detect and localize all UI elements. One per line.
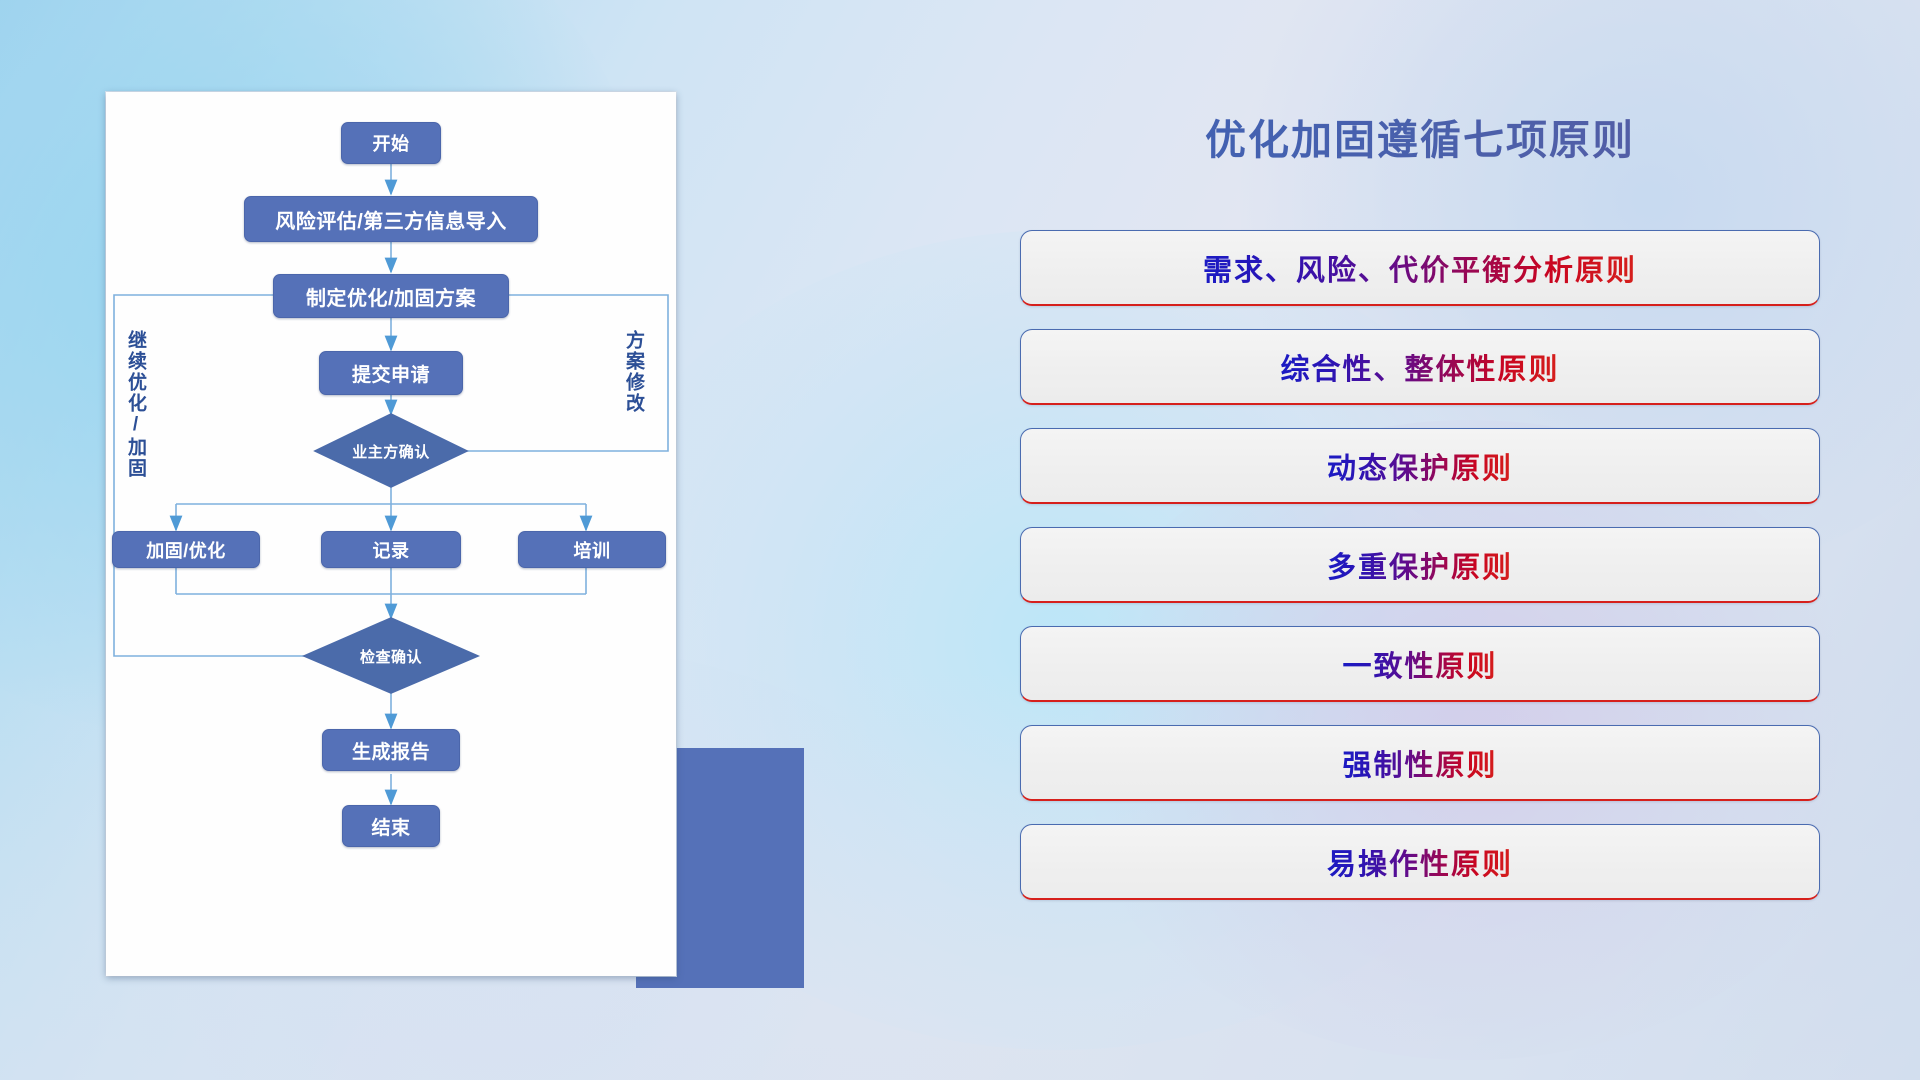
flow-node-generate-report[interactable]: 生成报告 xyxy=(322,729,460,771)
principles-list: 需求、风险、代价平衡分析原则 综合性、整体性原则 动态保护原则 多重保护原则 一… xyxy=(1020,230,1820,923)
principle-label: 动态保护原则 xyxy=(1327,445,1513,487)
flow-node-reinforce-optimize[interactable]: 加固/优化 xyxy=(112,531,260,568)
flow-node-start[interactable]: 开始 xyxy=(341,122,441,164)
principle-item-2[interactable]: 综合性、整体性原则 xyxy=(1020,329,1820,405)
principle-label: 易操作性原则 xyxy=(1327,841,1513,883)
principle-label: 需求、风险、代价平衡分析原则 xyxy=(1203,247,1637,289)
principle-label: 一致性原则 xyxy=(1342,643,1497,685)
principle-item-5[interactable]: 一致性原则 xyxy=(1020,626,1820,702)
flow-node-record[interactable]: 记录 xyxy=(321,531,461,568)
principle-label: 多重保护原则 xyxy=(1327,544,1513,586)
principle-item-1[interactable]: 需求、风险、代价平衡分析原则 xyxy=(1020,230,1820,306)
principle-item-7[interactable]: 易操作性原则 xyxy=(1020,824,1820,900)
principle-label: 强制性原则 xyxy=(1342,742,1497,784)
principles-panel: 优化加固遵循七项原则 需求、风险、代价平衡分析原则 综合性、整体性原则 动态保护… xyxy=(1020,100,1820,980)
panel-title: 优化加固遵循七项原则 xyxy=(1020,106,1820,166)
flow-node-plan[interactable]: 制定优化/加固方案 xyxy=(273,274,509,318)
flow-node-owner-confirm[interactable]: 业主方确认 xyxy=(315,436,467,466)
flow-node-submit-application[interactable]: 提交申请 xyxy=(319,351,463,395)
flow-edge-label-right-loop: 方案修改 xyxy=(624,330,643,414)
principle-item-4[interactable]: 多重保护原则 xyxy=(1020,527,1820,603)
flow-node-check-confirm[interactable]: 检查确认 xyxy=(304,641,478,671)
principle-item-3[interactable]: 动态保护原则 xyxy=(1020,428,1820,504)
principle-item-6[interactable]: 强制性原则 xyxy=(1020,725,1820,801)
slide-canvas: 业主方确认 检查确认 开始 风险评估/第三方信息导入 制定优化/加固方案 提交申… xyxy=(0,0,1920,1080)
flow-node-risk-assessment[interactable]: 风险评估/第三方信息导入 xyxy=(244,196,538,242)
flowchart-card: 业主方确认 检查确认 开始 风险评估/第三方信息导入 制定优化/加固方案 提交申… xyxy=(106,92,676,976)
flow-node-end[interactable]: 结束 xyxy=(342,805,440,847)
flow-node-training[interactable]: 培训 xyxy=(518,531,666,568)
principle-label: 综合性、整体性原则 xyxy=(1280,346,1559,388)
flow-edge-label-left-loop: 继续优化/加固 xyxy=(126,330,145,479)
